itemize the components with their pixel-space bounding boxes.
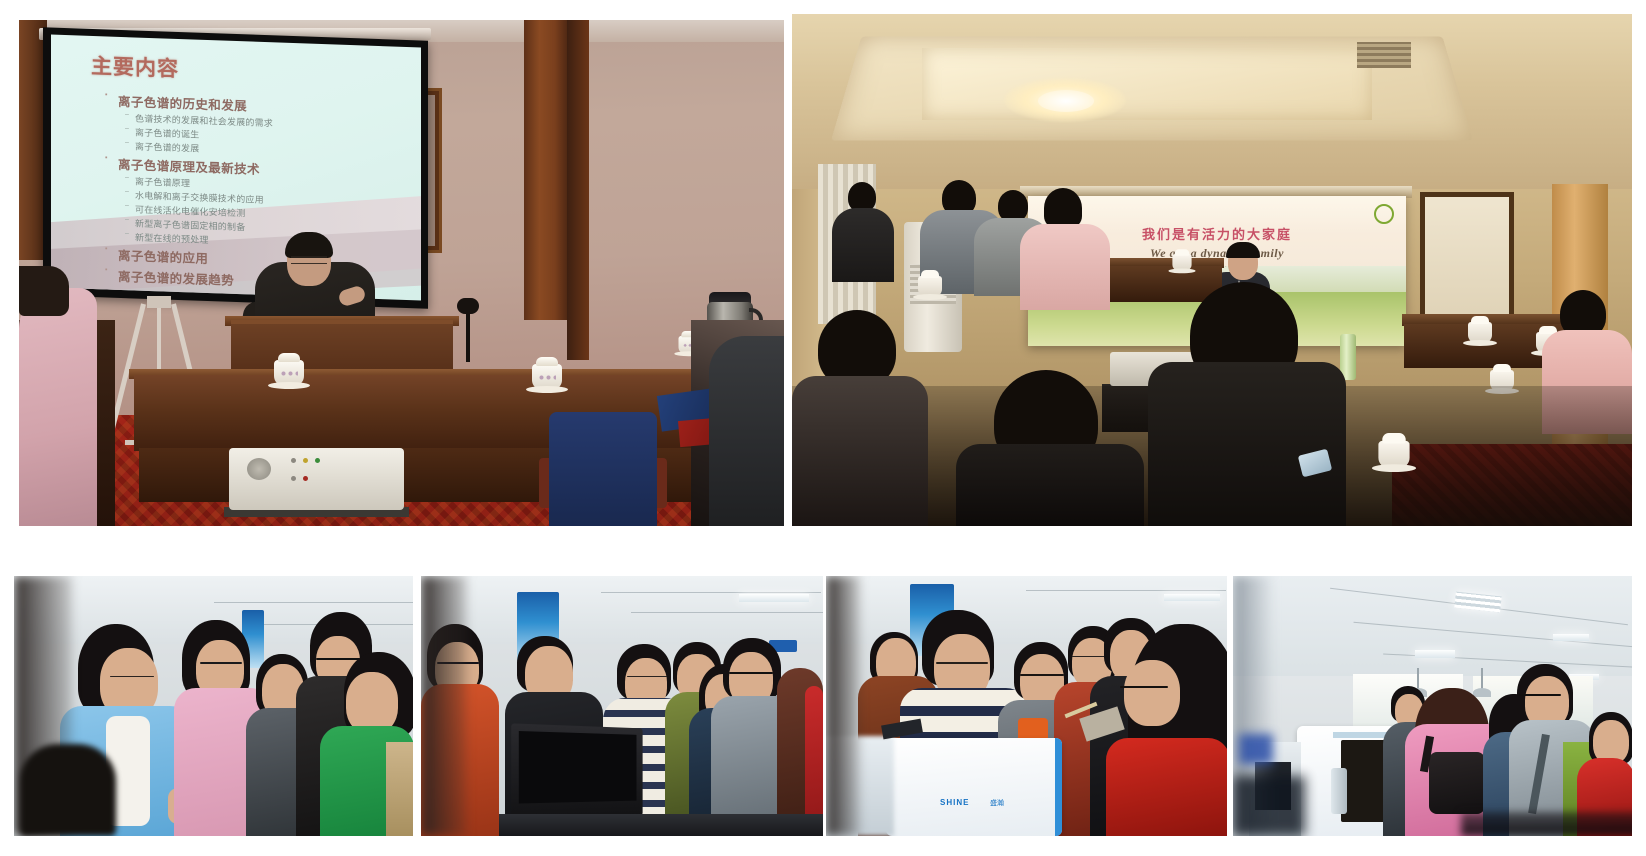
eluent-bottle bbox=[1331, 768, 1347, 814]
instrument-label-strip bbox=[1333, 732, 1389, 738]
ceiling-grid-line bbox=[1026, 590, 1226, 591]
teacup bbox=[1172, 254, 1191, 271]
attendee-body-foreground bbox=[1148, 362, 1346, 526]
visitor-glasses bbox=[936, 662, 988, 664]
wood-column bbox=[524, 20, 568, 320]
attendee-left-head bbox=[19, 266, 69, 316]
ceiling-grid-line bbox=[601, 592, 821, 593]
projector-button bbox=[303, 476, 308, 481]
teacup bbox=[274, 360, 304, 386]
visitor-glasses bbox=[1519, 694, 1561, 696]
microphone-stand bbox=[466, 306, 470, 362]
ceiling-light bbox=[1038, 90, 1094, 112]
teacup bbox=[532, 364, 562, 390]
photo-collage: 主要内容 离子色谱的历史和发展 色谱技术的发展和社会发展的需求 离子色谱的诞生 … bbox=[0, 0, 1646, 856]
photo-seminar-audience: 我们是有活力的大家庭 We are a dynamic family ·····… bbox=[792, 14, 1632, 526]
backpack bbox=[1429, 752, 1485, 814]
slide-title: 主要内容 bbox=[91, 50, 179, 83]
foreground-blur bbox=[826, 576, 860, 836]
teacup bbox=[1468, 322, 1492, 343]
pendant-lamp bbox=[1473, 688, 1491, 697]
instrument-brand-label-cn: 盛瀚 bbox=[990, 798, 1004, 808]
projected-slide: 主要内容 离子色谱的历史和发展 色谱技术的发展和社会发展的需求 离子色谱的诞生 … bbox=[51, 35, 421, 301]
coffered-ceiling-inner bbox=[922, 48, 1372, 120]
ceiling-light bbox=[739, 594, 809, 602]
visitor-glasses bbox=[316, 658, 360, 660]
ceiling-grid-line bbox=[631, 612, 823, 613]
visitor-glasses bbox=[1020, 674, 1064, 676]
visitor-scarf bbox=[386, 742, 413, 836]
conference-table bbox=[1094, 266, 1222, 302]
projector-lens bbox=[247, 458, 271, 480]
attendee-right bbox=[709, 336, 784, 526]
visitor-head bbox=[346, 672, 398, 734]
photo-lab-hall-instruments bbox=[1233, 576, 1632, 836]
projector-button bbox=[291, 476, 296, 481]
foreground-head-blur bbox=[20, 744, 116, 836]
foreground-blur bbox=[421, 576, 467, 836]
attendee-body bbox=[1020, 224, 1110, 310]
foreground-blue-blur bbox=[1239, 734, 1273, 764]
photo-lab-tour-monitor bbox=[421, 576, 823, 836]
slide-logo-icon bbox=[1374, 204, 1394, 224]
instrument-accent-stripe bbox=[1055, 738, 1062, 836]
ceiling-light bbox=[1553, 634, 1589, 641]
speaker-glasses bbox=[291, 256, 327, 264]
visitor-glasses bbox=[627, 676, 667, 677]
attendee-body bbox=[832, 208, 894, 282]
photo-lab-instrument-shine: SHINE 盛瀚 bbox=[826, 576, 1227, 836]
projector-button bbox=[291, 458, 296, 463]
teacup bbox=[918, 276, 942, 297]
pendant-lamp-rod bbox=[1481, 668, 1483, 690]
microphone-head bbox=[457, 298, 479, 314]
ceiling-grid-line bbox=[214, 602, 413, 603]
ceiling-vent bbox=[1357, 42, 1411, 68]
visitor-glasses bbox=[200, 662, 242, 664]
ceiling-light bbox=[1164, 594, 1220, 601]
calligraphy-text: 春 bbox=[1431, 203, 1503, 331]
tripod-head bbox=[147, 296, 171, 308]
lab-ceiling bbox=[421, 576, 823, 644]
ion-chromatograph: SHINE 盛瀚 bbox=[886, 738, 1062, 836]
ceiling-light bbox=[1415, 650, 1455, 658]
projector-button bbox=[303, 458, 308, 463]
lab-bench bbox=[499, 814, 823, 836]
crt-monitor bbox=[511, 723, 642, 820]
attendee-body-foreground bbox=[956, 444, 1144, 526]
attendee-body-foreground bbox=[792, 376, 928, 526]
attendee-head bbox=[1044, 188, 1082, 228]
teacup bbox=[1378, 441, 1409, 468]
visitor-glasses bbox=[729, 672, 773, 674]
visitor-head bbox=[1124, 660, 1180, 726]
projector-button bbox=[315, 458, 320, 463]
attendee-left bbox=[19, 288, 97, 526]
photo-lab-demo-instrument bbox=[14, 576, 413, 836]
wood-column-edge bbox=[567, 20, 589, 360]
visitor-glasses bbox=[1120, 686, 1168, 688]
foreground-blur-object bbox=[1233, 776, 1305, 836]
photo-seminar-lecture: 主要内容 离子色谱的历史和发展 色谱技术的发展和社会发展的需求 离子色谱的诞生 … bbox=[19, 20, 784, 526]
projection-screen: 主要内容 离子色谱的历史和发展 色谱技术的发展和社会发展的需求 离子色谱的诞生 … bbox=[43, 27, 428, 308]
slide-bullet-list: 离子色谱的历史和发展 色谱技术的发展和社会发展的需求 离子色谱的诞生 离子色谱的… bbox=[105, 88, 413, 295]
presenter-hair bbox=[1226, 242, 1260, 258]
monitor-screen bbox=[519, 731, 637, 804]
pendant-lamp-rod bbox=[1417, 668, 1419, 690]
visitor-body bbox=[1106, 738, 1227, 836]
presenter-glasses bbox=[110, 676, 154, 677]
instrument-brand-label: SHINE bbox=[940, 798, 969, 807]
foreground-shadow bbox=[1461, 812, 1632, 836]
chair-back bbox=[549, 412, 657, 526]
